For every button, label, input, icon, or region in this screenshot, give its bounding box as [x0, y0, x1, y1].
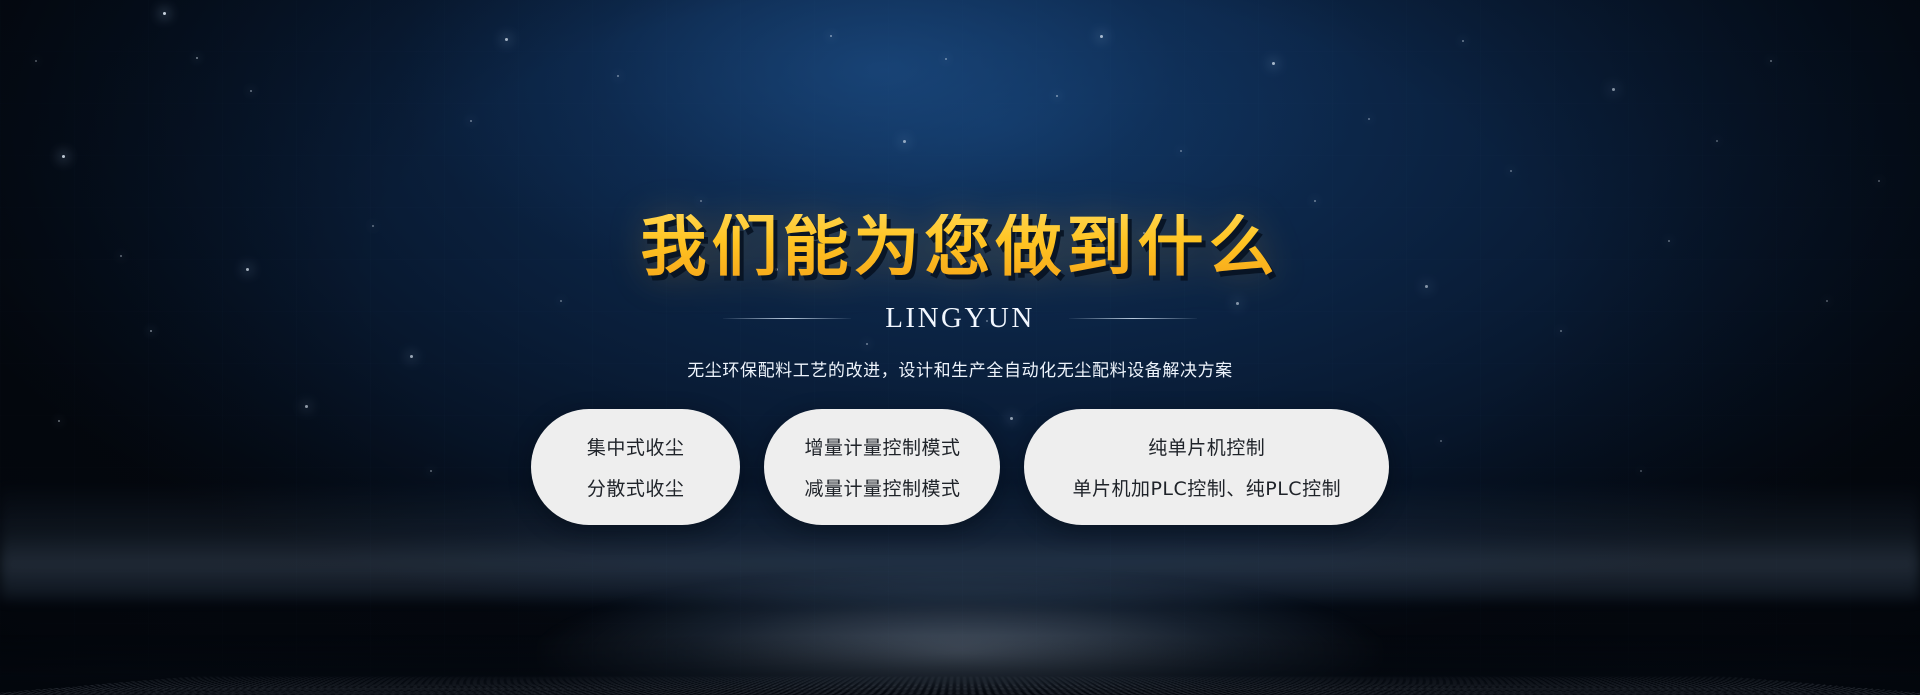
hero-banner: 我们能为您做到什么 LINGYUN 无尘环保配料工艺的改进，设计和生产全自动化无…: [0, 0, 1920, 695]
banner-content: 我们能为您做到什么 LINGYUN 无尘环保配料工艺的改进，设计和生产全自动化无…: [0, 0, 1920, 695]
pill-line: 增量计量控制模式: [804, 433, 960, 460]
brand-name: LINGYUN: [885, 302, 1035, 335]
pill-line: 分散式收尘: [587, 474, 685, 501]
feature-pill-group: 集中式收尘 分散式收尘 增量计量控制模式 减量计量控制模式 纯单片机控制 单片机…: [531, 409, 1389, 525]
pill-line: 减量计量控制模式: [804, 474, 960, 501]
feature-pill-dust-collection[interactable]: 集中式收尘 分散式收尘: [531, 409, 741, 525]
tagline: 无尘环保配料工艺的改进，设计和生产全自动化无尘配料设备解决方案: [687, 356, 1233, 381]
pill-line: 集中式收尘: [587, 433, 685, 460]
rule-left-icon: [723, 318, 851, 319]
pill-line: 纯单片机控制: [1072, 433, 1341, 460]
rule-right-icon: [1069, 318, 1197, 319]
feature-pill-metering-mode[interactable]: 增量计量控制模式 减量计量控制模式: [764, 409, 1000, 525]
pill-line: 单片机加PLC控制、纯PLC控制: [1072, 474, 1341, 501]
page-title: 我们能为您做到什么: [641, 214, 1280, 280]
feature-pill-control-system[interactable]: 纯单片机控制 单片机加PLC控制、纯PLC控制: [1024, 409, 1389, 525]
brand-row: LINGYUN: [723, 302, 1197, 335]
